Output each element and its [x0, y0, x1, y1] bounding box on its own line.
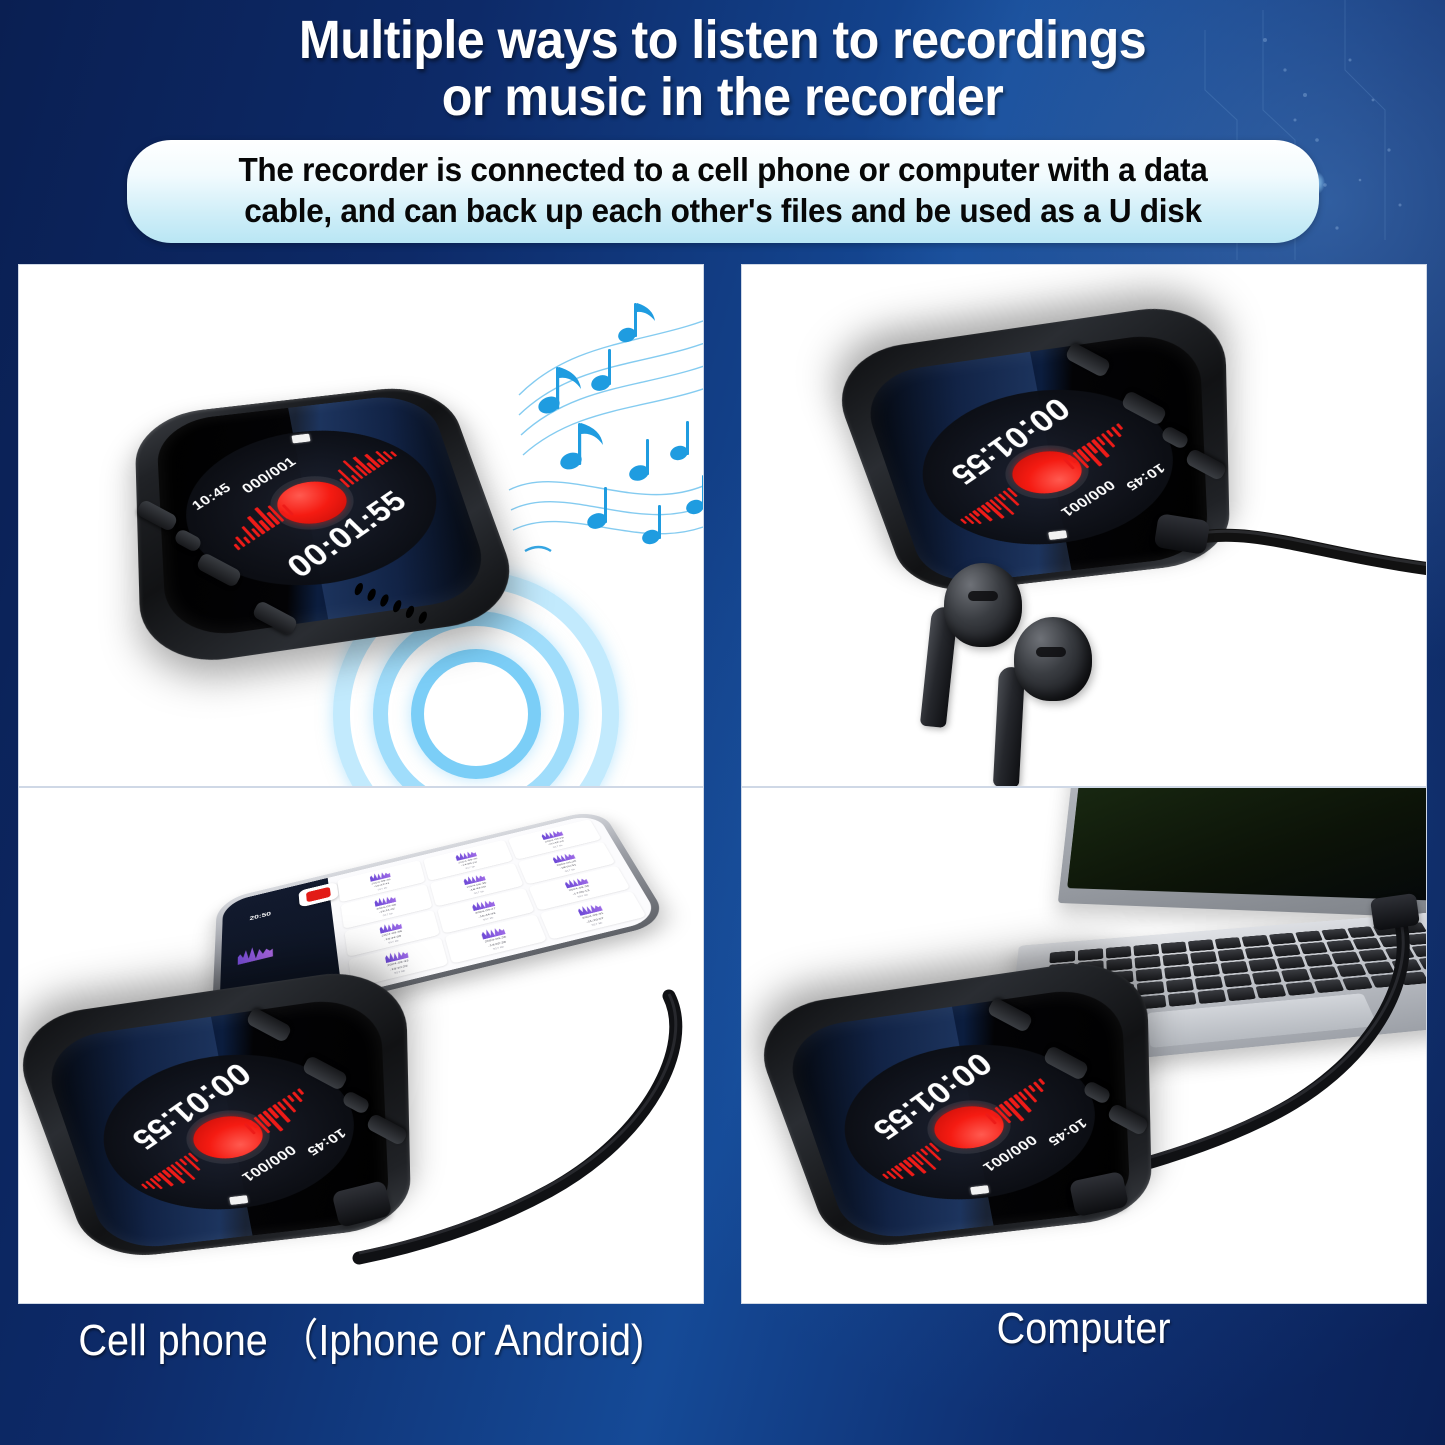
battery-icon: [970, 1185, 989, 1195]
file-size: 917 kb: [388, 940, 399, 945]
device-body: 10:45 000/001 00:01:55: [822, 297, 1230, 596]
battery-icon: [291, 434, 310, 444]
caption-cellphone-label: Cell phone （Iphone or Android): [78, 1304, 644, 1368]
waveform-right: [960, 488, 1031, 539]
earbud-head: [1014, 617, 1092, 701]
panel-cellphone: 20:50 2024-09-36 -19:23:41 917 kb: [18, 787, 704, 1304]
device-body: 10:45 000/001 00:01:55: [134, 382, 528, 671]
laptop-screen: [1067, 787, 1427, 901]
subtitle-line-1: The recorder is connected to a cell phon…: [186, 150, 1259, 190]
header: Multiple ways to listen to recordings or…: [0, 0, 1445, 243]
caption-cellphone: Cell phone （Iphone or Android): [18, 1304, 704, 1368]
subtitle-banner: The recorder is connected to a cell phon…: [127, 140, 1319, 243]
panel-earphones: 10:45 000/001 00:01:55: [741, 264, 1427, 787]
music-notes-graphic: [489, 275, 704, 575]
screen-clock: 10:45: [1044, 1115, 1089, 1148]
poster-root: Multiple ways to listen to recordings or…: [0, 0, 1445, 1445]
usb-c-plug: [1370, 893, 1420, 931]
screen-clock: 10:45: [303, 1125, 348, 1158]
cell-computer: 10:45 000/001 00:01:55: [741, 787, 1427, 1304]
cell-earphones: 10:45 000/001 00:01:55: [741, 264, 1427, 787]
screen-clock: 10:45: [1122, 460, 1167, 493]
cell-speaker: 10:45 000/001 00:01:55: [18, 264, 704, 787]
caption-computer-label: Computer: [997, 1304, 1171, 1354]
laptop-lid: [1058, 787, 1427, 919]
file-size: 917 kb: [591, 922, 603, 927]
file-size: 917 kb: [493, 946, 505, 951]
cell-cellphone: 20:50 2024-09-36 -19:23:41 917 kb: [18, 787, 704, 1304]
waveform-right: [882, 1143, 953, 1194]
earbud-speaker-slot: [1036, 647, 1066, 657]
title-line-1: Multiple ways to listen to recordings: [88, 12, 1357, 69]
recorder-device: 10:45 000/001 00:01:55: [866, 313, 1226, 623]
title-line-2: or music in the recorder: [88, 69, 1357, 126]
earbud-speaker-slot: [968, 591, 998, 601]
device-screen: 10:45 000/001 00:01:55: [156, 392, 497, 643]
caption-computer: Computer: [741, 1304, 1427, 1354]
file-size: 917 kb: [483, 917, 494, 922]
recorder-device: 10:45 000/001 00:01:55: [47, 978, 407, 1288]
subtitle-line-2: cable, and can back up each other's file…: [186, 191, 1259, 231]
waveform-right: [141, 1153, 212, 1204]
battery-icon: [1048, 530, 1067, 540]
file-size: 917 kb: [577, 894, 588, 899]
device-screen: 10:45 000/001 00:01:55: [856, 328, 1209, 587]
usb-c-cable: [1182, 495, 1427, 615]
panel-computer: 10:45 000/001 00:01:55: [741, 787, 1427, 1304]
file-size: 917 kb: [394, 969, 405, 974]
earbud-head: [944, 563, 1022, 647]
recorder-device: 10:45 000/001 00:01:55: [788, 968, 1148, 1278]
panel-grid: 10:45 000/001 00:01:55: [18, 264, 1427, 1429]
screen-clock: 10:45: [189, 481, 234, 514]
page-title: Multiple ways to listen to recordings or…: [51, 12, 1395, 126]
panel-speaker: 10:45 000/001 00:01:55: [18, 264, 704, 787]
waveform-left: [218, 493, 294, 551]
waveform-right: [327, 436, 398, 487]
phone-file-grid: 2024-09-36 -19:23:41 917 kb 2024-09-36 -…: [328, 813, 660, 996]
battery-icon: [229, 1195, 248, 1205]
recorder-device: 10:45 000/001 00:01:55: [139, 357, 487, 657]
